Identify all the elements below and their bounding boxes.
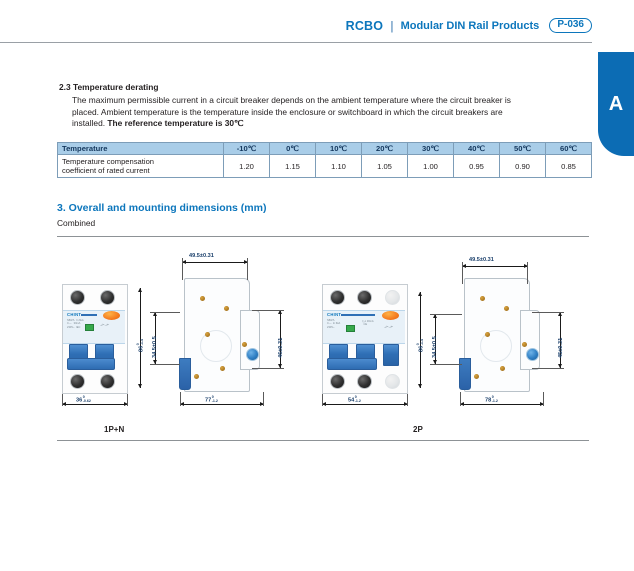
- dimension-arrow: [418, 384, 422, 388]
- extension-line: [180, 392, 181, 406]
- table-cell-5: 0.95: [454, 155, 500, 178]
- assembly-rivet: [485, 332, 490, 337]
- dimension-width-1pn: 360-0.62: [76, 396, 91, 404]
- derating-paragraph-block: The maximum permissible current in a cir…: [72, 95, 532, 130]
- dimension-bottom-profile-2p: 780-1.2: [485, 396, 498, 404]
- profile-housing: [464, 278, 530, 392]
- label-accent-bar: [81, 314, 97, 316]
- test-button: [382, 311, 399, 320]
- table-header-col-7: 60℃: [546, 143, 592, 155]
- dimension-arrow: [153, 312, 157, 316]
- page-header: RCBO | Modular DIN Rail Products P-036: [0, 18, 592, 33]
- table-cell-7: 0.85: [546, 155, 592, 178]
- dimensions-subtitle: Combined: [57, 218, 95, 228]
- header-product-name: RCBO: [346, 19, 384, 33]
- extension-line: [430, 314, 462, 315]
- rating-text: NB1?L In 6kAC--- 30mA230V~ IEC: [67, 319, 84, 329]
- din-rail-clip: [179, 358, 191, 390]
- mechanism-outline: [480, 330, 512, 362]
- terminal-screw: [100, 290, 115, 305]
- table-header-col-4: 30℃: [408, 143, 454, 155]
- dimension-arrow: [322, 402, 326, 406]
- dimensions-section-title: 3. Overall and mounting dimensions (mm): [57, 202, 266, 214]
- dimension-line: [460, 404, 544, 405]
- dimension-arrow: [124, 402, 128, 406]
- extension-line: [543, 392, 544, 406]
- dimension-arrow: [418, 292, 422, 296]
- assembly-rivet: [474, 374, 479, 379]
- assembly-rivet: [522, 342, 527, 347]
- terminal-screw: [330, 290, 345, 305]
- dimension-line: [182, 262, 248, 263]
- drawing-profile-1pn: [178, 278, 264, 396]
- dimension-arrow: [153, 360, 157, 364]
- extension-line: [527, 262, 528, 284]
- dimension-line: [462, 266, 528, 267]
- toggle-lever: [329, 344, 348, 366]
- schematic-text: ⊣⊢⊣⊢: [100, 324, 109, 327]
- device-housing: [62, 284, 128, 394]
- extension-line: [407, 394, 408, 406]
- dimension-right-profile-2p: 45±0.31: [558, 338, 564, 358]
- dimension-height-2p: 860-1.4: [417, 339, 425, 352]
- drawing-front-2p: CHINT NB1?LC--- In 6kA230V~ I△n 30mA CE …: [322, 284, 408, 394]
- terminal-screw: [70, 290, 85, 305]
- table-row: Temperature compensation coefficient of …: [58, 155, 592, 178]
- dimension-arrow: [460, 402, 464, 406]
- assembly-rivet: [224, 306, 229, 311]
- toggle-link-bar: [327, 358, 377, 370]
- schematic-text: ⊣⊢⊣⊢: [384, 326, 393, 329]
- terminal-screw: [330, 374, 345, 389]
- dimension-arrow: [558, 312, 562, 316]
- caption-1pn: 1P+N: [104, 425, 124, 434]
- terminal-screw: [100, 374, 115, 389]
- extension-line: [247, 258, 248, 280]
- dimension-line: [62, 404, 128, 405]
- dimension-arrow: [433, 360, 437, 364]
- test-button: [103, 311, 120, 320]
- dimension-arrow: [404, 402, 408, 406]
- drawing-profile-2p: [458, 278, 544, 396]
- assembly-rivet: [504, 306, 509, 311]
- dimension-width-2p: 540-1.2: [348, 396, 361, 404]
- table-cell-6: 0.90: [500, 155, 546, 178]
- schematic-text: I△n 30mA CE: [362, 320, 374, 327]
- dimension-line: [280, 310, 281, 368]
- dimension-arrow: [138, 384, 142, 388]
- dimension-arrow: [182, 260, 186, 264]
- toggle-lever: [95, 344, 114, 366]
- derating-section-title: Temperature derating: [73, 82, 158, 92]
- dimension-mount-1pn: 34.5±0.5: [152, 336, 158, 358]
- dimension-arrow: [278, 310, 282, 314]
- dimension-line: [140, 288, 141, 388]
- toggle-lever: [383, 344, 399, 366]
- derating-heading: 2.3 Temperature derating: [59, 82, 158, 92]
- table-row-label-line2: coefficient of rated current: [62, 166, 223, 175]
- header-separator: |: [389, 19, 394, 33]
- dimension-line: [435, 314, 436, 364]
- extension-line: [532, 368, 564, 369]
- table-header-temperature: Temperature: [58, 143, 224, 155]
- caption-2p: 2P: [413, 425, 423, 434]
- table-header-col-1: 0℃: [270, 143, 316, 155]
- assembly-rivet: [480, 296, 485, 301]
- extension-line: [252, 368, 284, 369]
- extension-line: [532, 312, 564, 313]
- dimension-mount-2p: 34.5±0.5: [432, 336, 438, 358]
- derating-reference-note: The reference temperature is 30℃: [107, 118, 243, 128]
- profile-nose: [520, 310, 540, 370]
- status-indicator: [85, 324, 94, 331]
- dimension-right-profile-1pn: 46±0.31: [278, 338, 284, 358]
- dimension-arrow: [62, 402, 66, 406]
- mechanism-outline: [200, 330, 232, 362]
- dimension-top-profile-2p: 49.5±0.31: [469, 257, 494, 263]
- assembly-rivet: [242, 342, 247, 347]
- brand-logo: CHINT: [67, 312, 81, 317]
- assembly-rivet: [500, 366, 505, 371]
- profile-housing: [184, 278, 250, 392]
- dimension-arrow: [260, 402, 264, 406]
- table-cell-2: 1.10: [316, 155, 362, 178]
- terminal-screw: [70, 374, 85, 389]
- profile-nose: [240, 310, 260, 370]
- assembly-rivet: [220, 366, 225, 371]
- extension-line: [460, 392, 461, 406]
- temperature-derating-table: Temperature -10℃ 0℃ 10℃ 20℃ 30℃ 40℃ 50℃ …: [57, 142, 592, 178]
- dimension-arrow: [244, 260, 248, 264]
- extension-line: [252, 310, 284, 311]
- terminal-screw: [357, 374, 372, 389]
- header-divider: [0, 42, 592, 43]
- extension-line: [430, 364, 462, 365]
- dimension-height-1pn: 860-1.4: [137, 339, 145, 352]
- extension-line: [62, 394, 63, 406]
- extension-line: [322, 394, 323, 406]
- rating-text: NB1?LC--- In 6kA230V~: [327, 319, 340, 329]
- terminal-port: [526, 348, 539, 361]
- dimension-line: [322, 404, 408, 405]
- dimension-arrow: [524, 264, 528, 268]
- assembly-rivet: [194, 374, 199, 379]
- table-header-col-3: 20℃: [362, 143, 408, 155]
- table-cell-4: 1.00: [408, 155, 454, 178]
- device-label-band: [323, 310, 405, 344]
- assembly-rivet: [205, 332, 210, 337]
- terminal-screw: [385, 374, 400, 389]
- table-row-label-line1: Temperature compensation: [62, 157, 223, 166]
- extension-line: [263, 392, 264, 406]
- dimension-line: [560, 312, 561, 368]
- table-cell-1: 1.15: [270, 155, 316, 178]
- dimension-arrow: [433, 314, 437, 318]
- terminal-port: [246, 348, 259, 361]
- dimension-line: [180, 404, 264, 405]
- drawing-area-bottom-rule: [57, 440, 589, 441]
- dimension-arrow: [138, 288, 142, 292]
- drawing-area-top-rule: [57, 236, 589, 237]
- section-tab-label: A: [609, 93, 623, 116]
- extension-line: [127, 394, 128, 406]
- terminal-screw: [357, 290, 372, 305]
- derating-section-number: 2.3: [59, 82, 71, 92]
- dimension-arrow: [278, 364, 282, 368]
- dimension-arrow: [558, 364, 562, 368]
- section-tab-a: A: [598, 52, 634, 156]
- status-indicator: [346, 325, 355, 332]
- dimension-line: [420, 292, 421, 388]
- brand-logo: CHINT: [327, 312, 341, 317]
- label-accent-bar: [341, 314, 375, 316]
- dimension-top-profile-1pn: 49.5±0.31: [189, 253, 214, 259]
- dimension-bottom-profile-1pn: 770-1.2: [205, 396, 218, 404]
- dimension-arrow: [540, 402, 544, 406]
- table-row-label: Temperature compensation coefficient of …: [58, 155, 224, 178]
- toggle-link-bar: [67, 358, 115, 370]
- din-rail-clip: [459, 358, 471, 390]
- dimension-line: [155, 312, 156, 364]
- device-housing: [322, 284, 408, 394]
- extension-line: [150, 312, 180, 313]
- toggle-lever: [356, 344, 375, 366]
- table-header-col-5: 40℃: [454, 143, 500, 155]
- toggle-lever: [69, 344, 88, 366]
- page-number-badge: P-036: [549, 18, 592, 33]
- extension-line: [182, 258, 183, 280]
- table-cell-3: 1.05: [362, 155, 408, 178]
- header-category: Modular DIN Rail Products: [401, 20, 540, 32]
- table-header-col-2: 10℃: [316, 143, 362, 155]
- drawing-front-1pn: CHINT NB1?L In 6kAC--- 30mA230V~ IEC ⊣⊢⊣…: [62, 284, 128, 394]
- extension-line: [462, 262, 463, 284]
- extension-line: [150, 364, 180, 365]
- table-cell-0: 1.20: [224, 155, 270, 178]
- assembly-rivet: [200, 296, 205, 301]
- table-header-row: Temperature -10℃ 0℃ 10℃ 20℃ 30℃ 40℃ 50℃ …: [58, 143, 592, 155]
- terminal-screw: [385, 290, 400, 305]
- table-header-col-6: 50℃: [500, 143, 546, 155]
- table-header-col-0: -10℃: [224, 143, 270, 155]
- dimension-arrow: [462, 264, 466, 268]
- device-label-band: [63, 310, 125, 344]
- dimension-arrow: [180, 402, 184, 406]
